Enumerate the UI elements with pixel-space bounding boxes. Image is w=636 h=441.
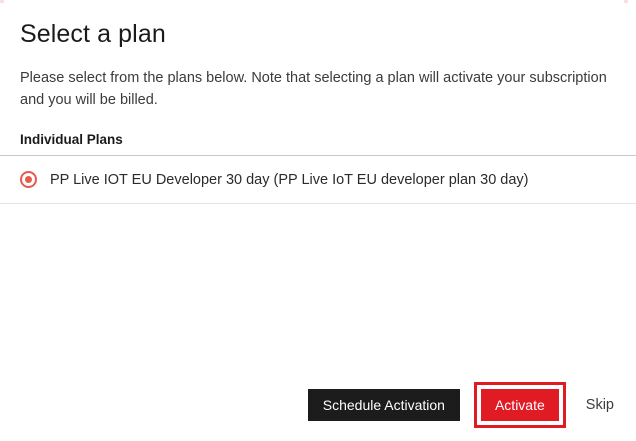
- activate-button[interactable]: Activate: [481, 389, 559, 421]
- header-block: Select a plan Please select from the pla…: [20, 18, 616, 149]
- plan-option-row[interactable]: PP Live IOT EU Developer 30 day (PP Live…: [0, 156, 636, 204]
- select-plan-page: Select a plan Please select from the pla…: [0, 0, 636, 441]
- page-title: Select a plan: [20, 18, 616, 50]
- footer-actions: Schedule Activation Activate Skip: [308, 382, 616, 428]
- top-left-corner-artifact: [0, 0, 4, 3]
- top-right-corner-artifact: [624, 0, 628, 3]
- page-description: Please select from the plans below. Note…: [20, 67, 614, 111]
- plan-option-label: PP Live IOT EU Developer 30 day (PP Live…: [50, 170, 529, 190]
- skip-button[interactable]: Skip: [584, 391, 616, 419]
- section-label-individual-plans: Individual Plans: [20, 131, 616, 149]
- radio-selected-icon[interactable]: [20, 171, 37, 188]
- activate-button-highlight: Activate: [474, 382, 566, 428]
- plan-list: PP Live IOT EU Developer 30 day (PP Live…: [0, 155, 636, 204]
- schedule-activation-button[interactable]: Schedule Activation: [308, 389, 460, 421]
